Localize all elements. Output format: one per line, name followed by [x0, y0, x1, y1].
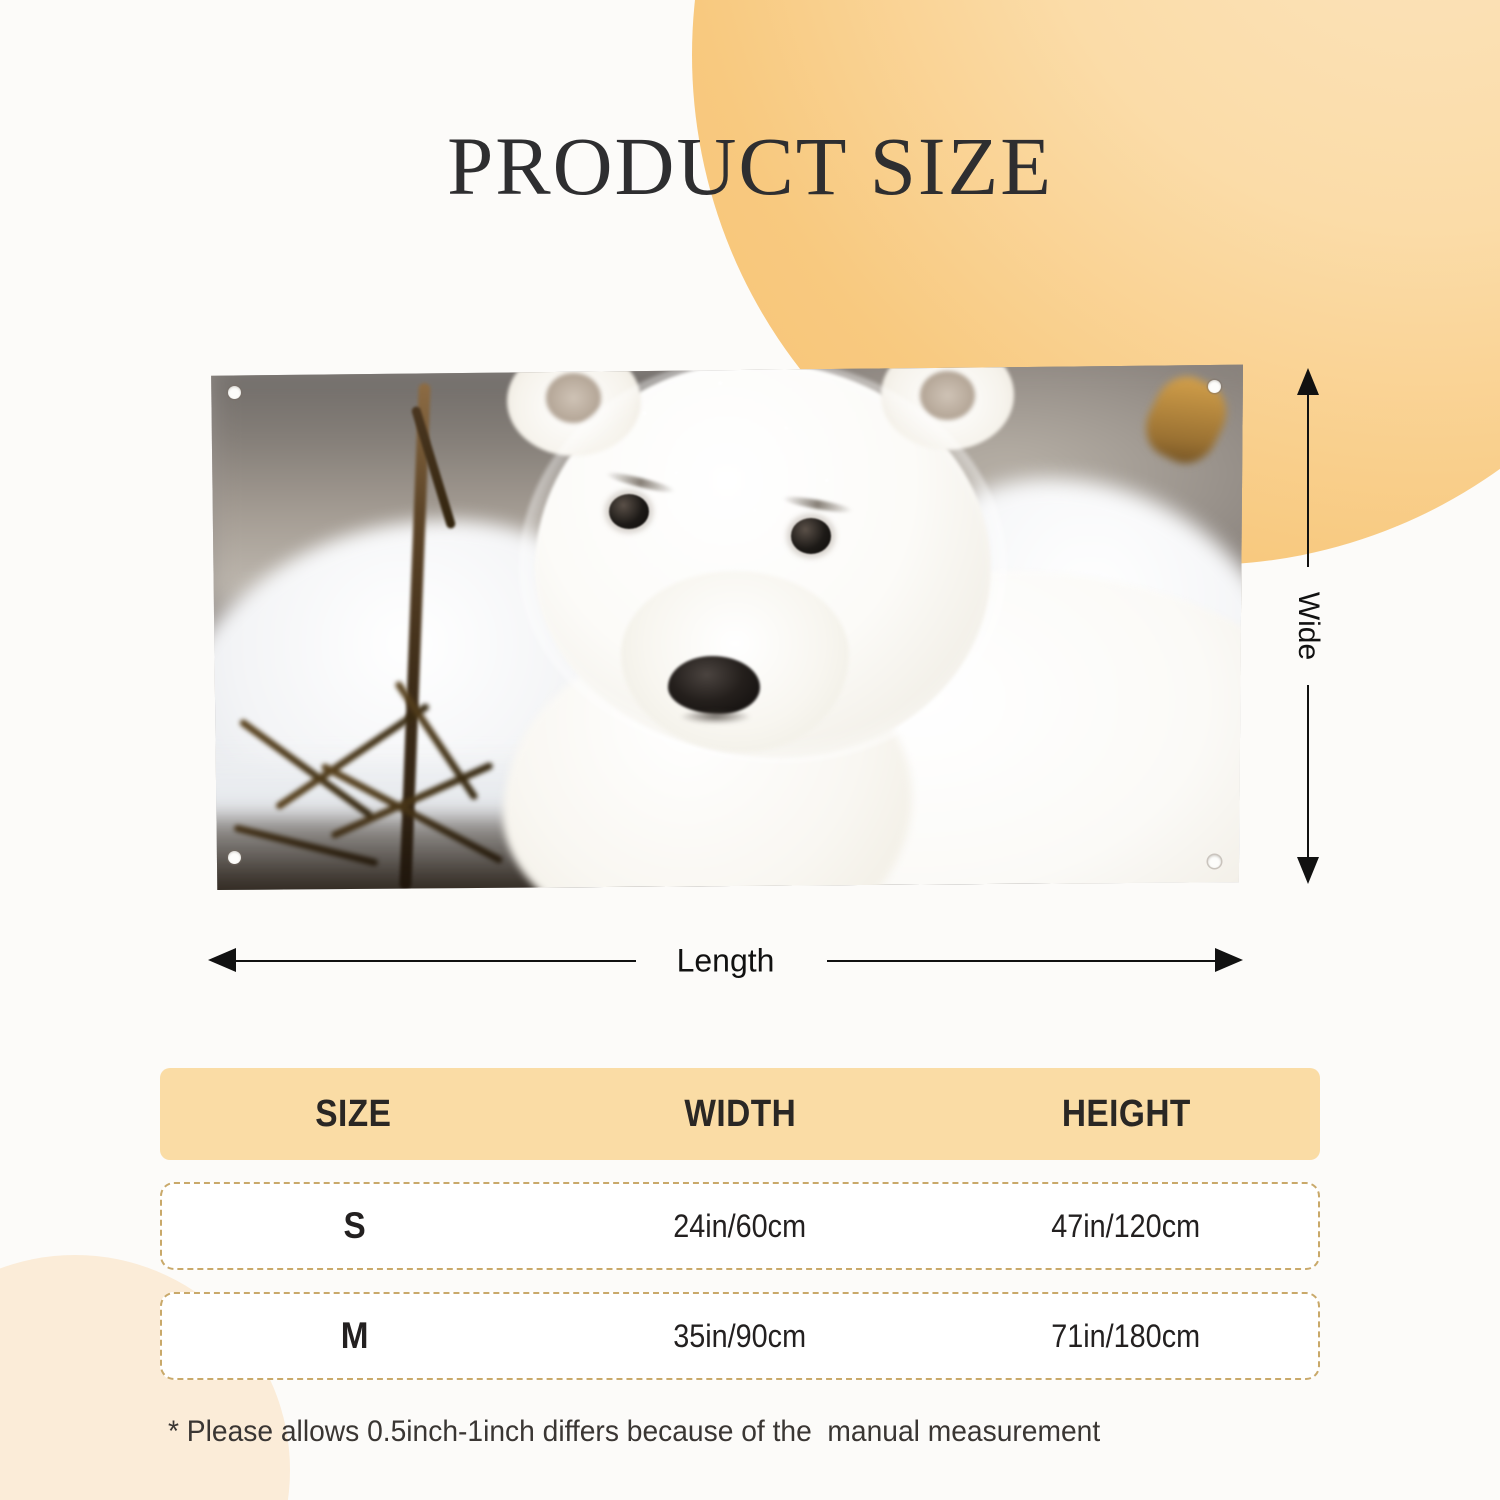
- table-row: M 35in/90cm 71in/180cm: [160, 1292, 1320, 1380]
- page-title: PRODUCT SIZE: [0, 118, 1500, 214]
- arrow-line-bottom: [1307, 685, 1309, 860]
- wide-label: Wide: [1291, 588, 1325, 664]
- column-header-size: SIZE: [183, 1093, 523, 1136]
- cub-eye-left: [609, 494, 649, 529]
- cell-width-s: 24in/60cm: [567, 1208, 914, 1245]
- length-label: Length: [659, 943, 793, 980]
- arrow-up-icon: [1297, 368, 1319, 395]
- arrow-line-top: [1307, 392, 1309, 567]
- cub-eye-right: [791, 518, 831, 553]
- table-row: S 24in/60cm 47in/120cm: [160, 1182, 1320, 1270]
- arrow-left-icon: [208, 948, 236, 972]
- cell-width-m: 35in/90cm: [567, 1318, 914, 1355]
- measurement-footnote: * Please allows 0.5inch-1inch differs be…: [168, 1415, 1100, 1449]
- grommet-top-left: [228, 386, 241, 399]
- cell-height-m: 71in/180cm: [952, 1318, 1299, 1355]
- cub-nose: [668, 656, 759, 714]
- arrow-right-icon: [1215, 948, 1243, 972]
- grommet-bottom-left: [228, 851, 241, 864]
- wide-dimension-arrow: Wide: [1284, 368, 1332, 884]
- size-table: SIZE WIDTH HEIGHT S 24in/60cm 47in/120cm…: [160, 1068, 1320, 1380]
- banner-image: [208, 362, 1243, 890]
- arrow-line-left: [234, 960, 636, 962]
- grommet-top-right: [1208, 380, 1221, 393]
- column-header-width: WIDTH: [570, 1093, 910, 1136]
- product-size-page: PRODUCT SIZE: [0, 0, 1500, 1500]
- cell-height-s: 47in/120cm: [952, 1208, 1299, 1245]
- arrow-down-icon: [1297, 857, 1319, 884]
- length-dimension-arrow: Length: [208, 938, 1243, 984]
- column-header-height: HEIGHT: [956, 1093, 1296, 1136]
- cell-size-s: S: [181, 1205, 528, 1247]
- arrow-line-right: [827, 960, 1217, 962]
- polar-bear-cub: [487, 362, 1243, 890]
- cell-size-m: M: [181, 1315, 528, 1357]
- table-header-row: SIZE WIDTH HEIGHT: [160, 1068, 1320, 1160]
- grommet-bottom-right: [1208, 855, 1221, 868]
- product-preview: [208, 362, 1243, 890]
- cub-ear-inner-right: [920, 371, 975, 420]
- polar-bear-photo: [208, 362, 1243, 890]
